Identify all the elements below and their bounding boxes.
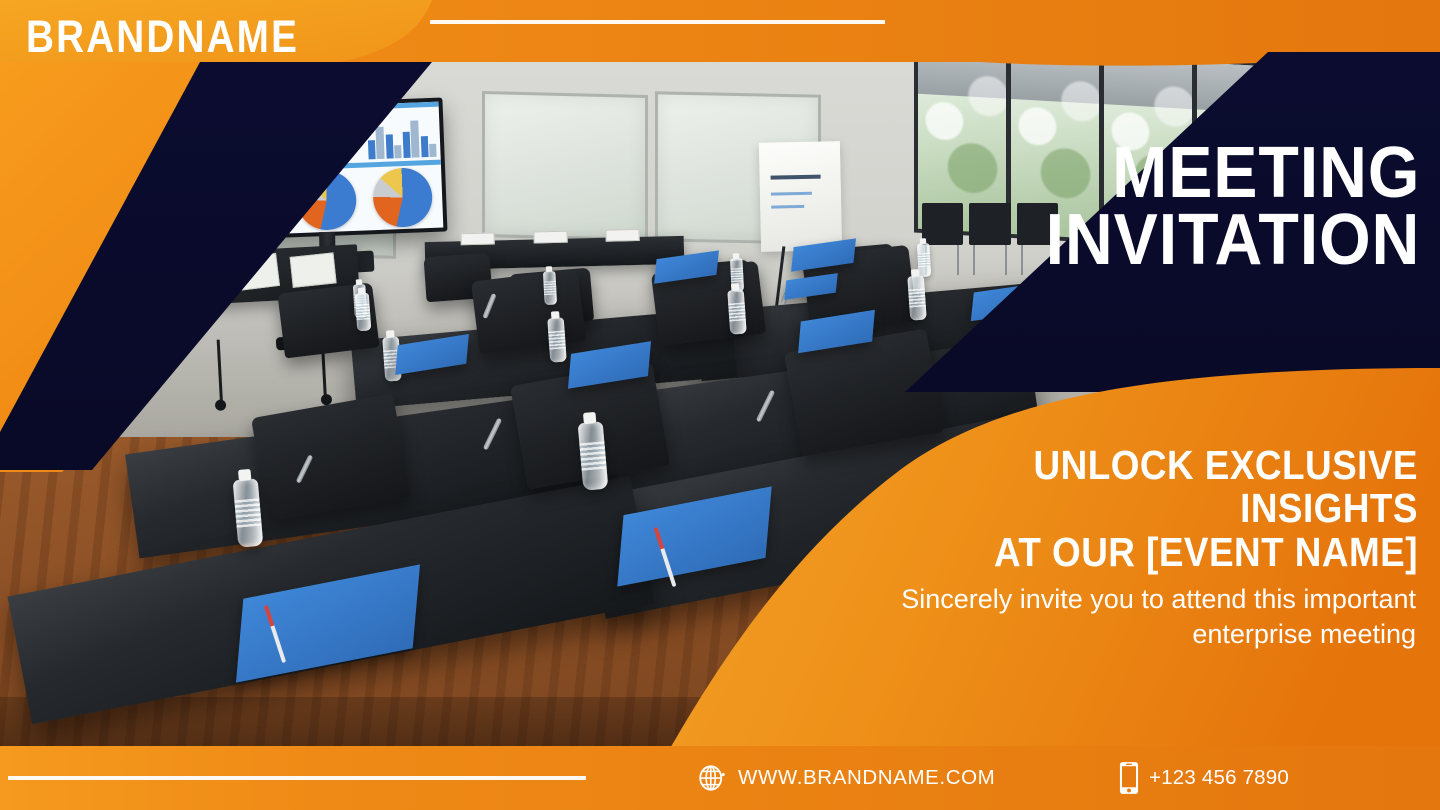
title-line-2: INVITATION — [1045, 207, 1420, 274]
invitation-message-line-2: enterprise meeting — [796, 617, 1416, 652]
mobile-phone-icon — [1118, 761, 1140, 795]
title-line-1: MEETING — [1045, 140, 1420, 207]
footer-contact-bar: WWW.BRANDNAME.COM +123 456 7890 — [0, 746, 1440, 810]
globe-icon — [697, 763, 727, 793]
page-title: MEETING INVITATION — [1013, 140, 1420, 274]
headline-line-2: AT OUR [EVENT NAME] — [878, 531, 1418, 574]
meeting-invitation-poster: BRANDNAME MEETING INVITATION UNLOCK EXCL… — [0, 0, 1440, 810]
phone-contact[interactable]: +123 456 7890 — [1118, 761, 1289, 795]
phone-text: +123 456 7890 — [1149, 766, 1289, 790]
brand-logo-text: BRANDNAME — [26, 11, 299, 63]
top-divider-line — [430, 20, 885, 24]
brand-shape-overlay — [0, 0, 1440, 810]
headline-line-1: UNLOCK EXCLUSIVE INSIGHTS — [878, 444, 1418, 531]
headline: UNLOCK EXCLUSIVE INSIGHTS AT OUR [EVENT … — [818, 444, 1418, 574]
invitation-message: Sincerely invite you to attend this impo… — [796, 582, 1416, 652]
website-text: WWW.BRANDNAME.COM — [738, 766, 995, 790]
website-contact[interactable]: WWW.BRANDNAME.COM — [697, 763, 995, 793]
invitation-message-line-1: Sincerely invite you to attend this impo… — [796, 582, 1416, 617]
